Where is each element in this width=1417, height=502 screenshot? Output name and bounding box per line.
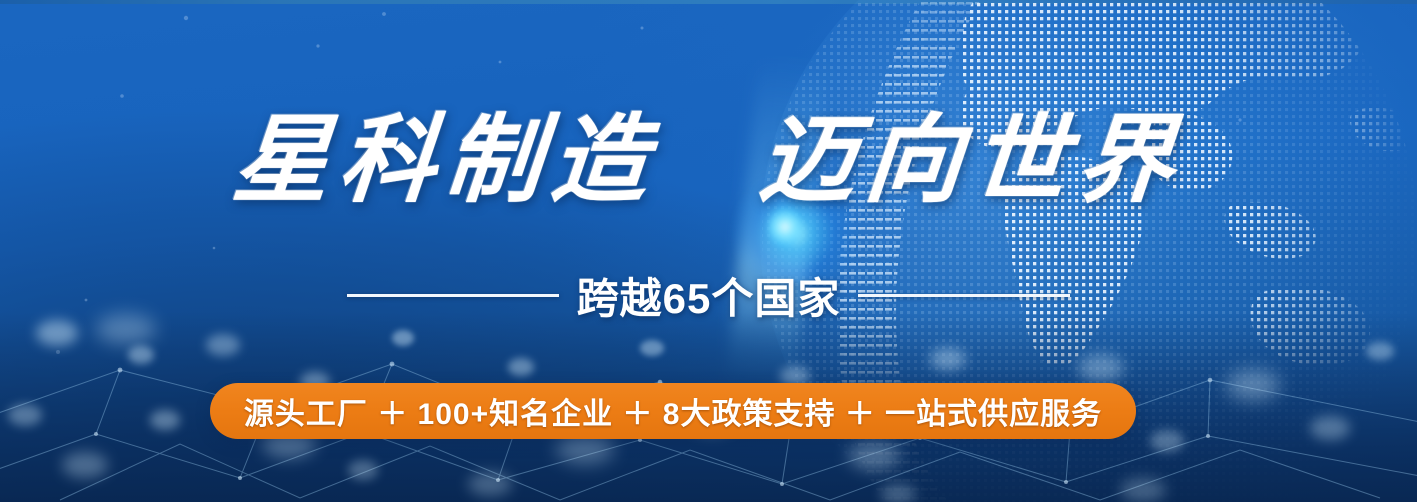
headline-part-1: 星科制造 — [229, 107, 662, 214]
banner-headline: 星科制造 迈向世界 — [0, 104, 1417, 218]
banner-subtitle: 跨越65个国家 — [577, 265, 841, 326]
feature-badge-text: 源头工厂 ＋ 100+知名企业 ＋ 8大政策支持 ＋ 一站式供应服务 — [244, 389, 1102, 433]
headline-part-2: 迈向世界 — [755, 107, 1188, 214]
banner-subtitle-row: 跨越65个国家 — [0, 266, 1417, 324]
feature-badge-pill[interactable]: 源头工厂 ＋ 100+知名企业 ＋ 8大政策支持 ＋ 一站式供应服务 — [210, 383, 1136, 439]
subtitle-rule-left-icon — [347, 294, 559, 297]
promo-banner: 星科制造 迈向世界 跨越65个国家 源头工厂 ＋ 100+知名企业 ＋ 8大政策… — [0, 0, 1417, 502]
subtitle-rule-right-icon — [858, 294, 1070, 297]
